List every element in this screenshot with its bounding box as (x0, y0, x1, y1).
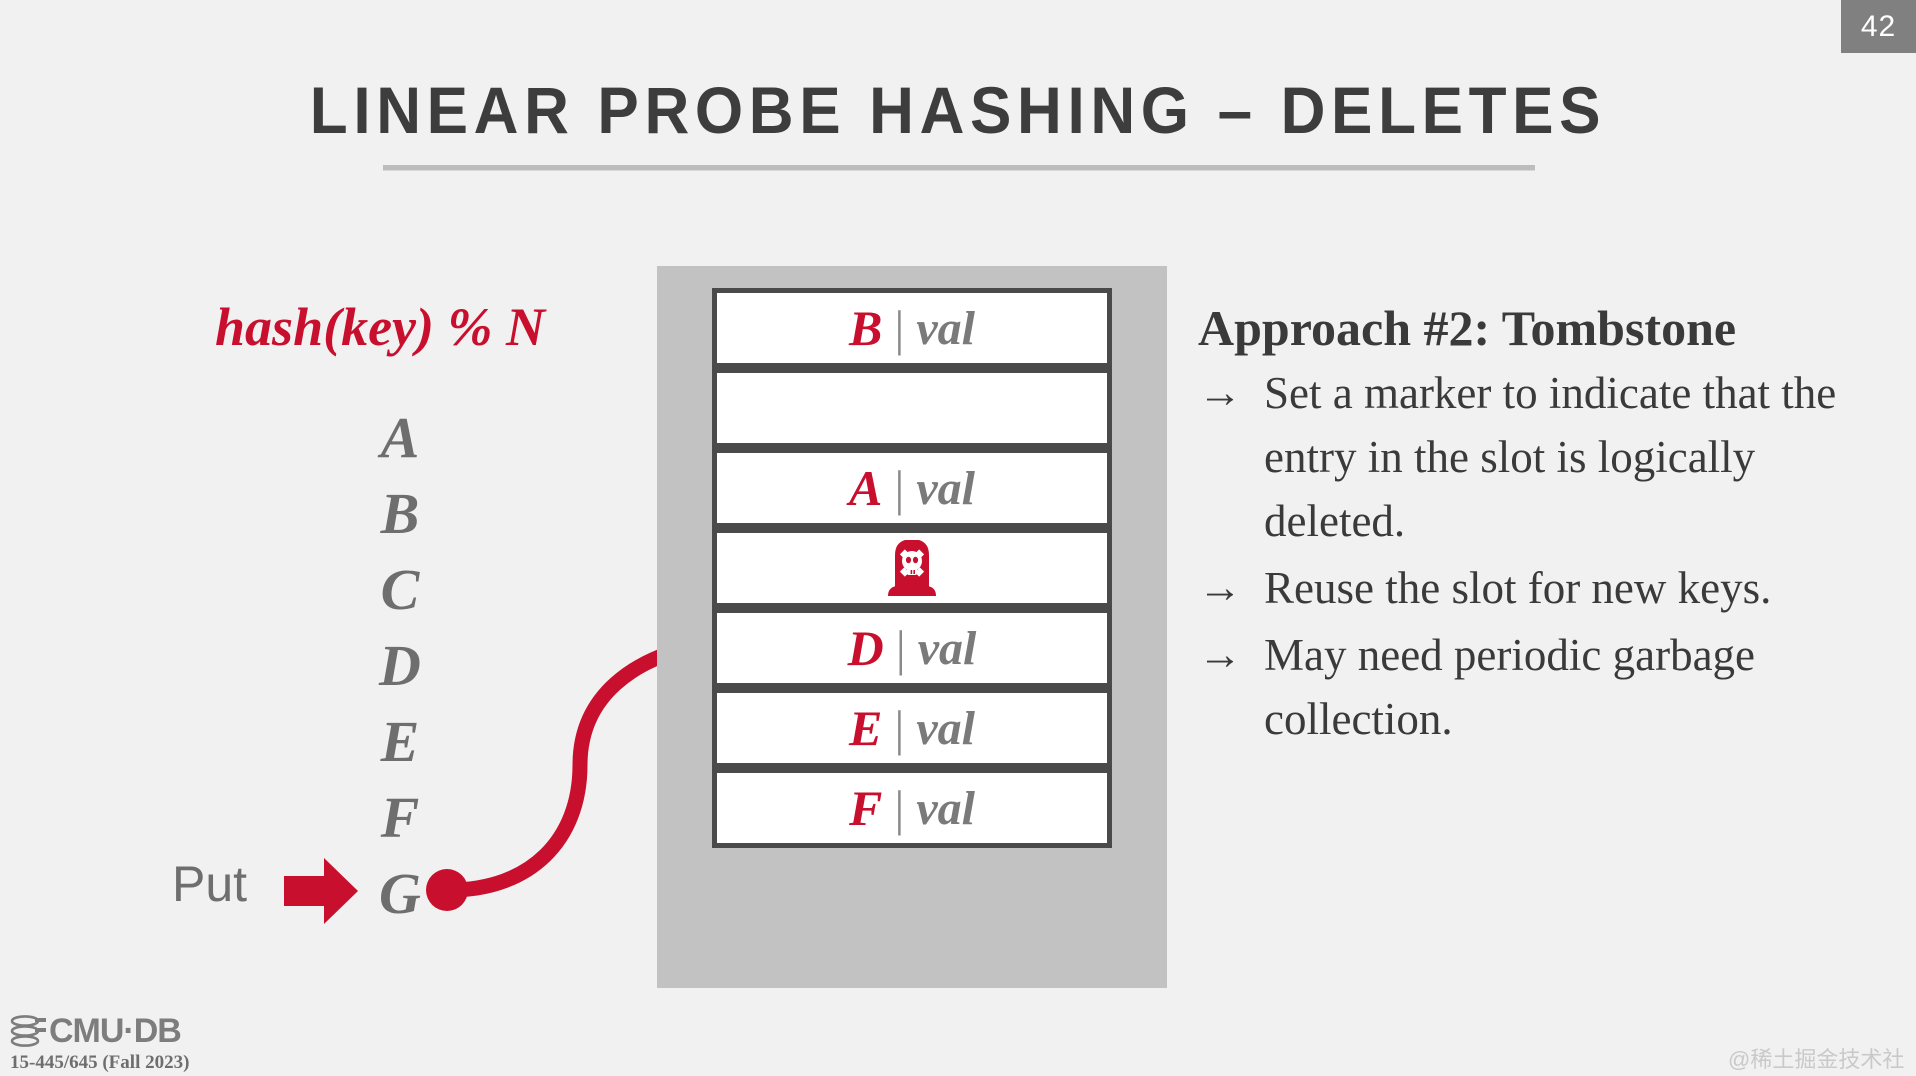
hash-formula: hash(key) % N (200, 296, 560, 358)
slot-value: val (916, 301, 975, 356)
hash-slot[interactable]: E | val (712, 688, 1112, 768)
slot-separator: | (896, 619, 906, 677)
watermark-label: @稀土掘金技术社区 (1728, 1042, 1916, 1076)
put-label: Put (172, 855, 247, 913)
bullet-item: → May need periodic garbage collection. (1198, 623, 1898, 751)
approach-heading: Approach #2: Tombstone (1198, 298, 1898, 358)
hash-slot[interactable]: D | val (712, 608, 1112, 688)
key-letter: A (355, 400, 445, 476)
slot-key: B (849, 299, 882, 357)
slot-value: val (918, 621, 977, 676)
hash-slot-empty[interactable] (712, 368, 1112, 448)
hash-slot[interactable]: B | val (712, 288, 1112, 368)
hash-table-container: B | val A | val (657, 266, 1167, 988)
key-letter: B (355, 476, 445, 552)
arrow-bullet-icon: → (1198, 623, 1264, 751)
bullet-text: Reuse the slot for new keys. (1264, 556, 1898, 620)
database-cylinder-icon (10, 1015, 46, 1049)
hash-slot[interactable]: A | val (712, 448, 1112, 528)
logo-text: CMU·DB (49, 1012, 181, 1051)
hash-slot-tombstone[interactable] (712, 528, 1112, 608)
hash-slot[interactable]: F | val (712, 768, 1112, 848)
arrow-bullet-icon: → (1198, 556, 1264, 620)
bullet-text: Set a marker to indicate that the entry … (1264, 361, 1898, 553)
slot-key: E (849, 699, 882, 757)
page-number-badge: 42 (1841, 0, 1916, 53)
slot-value: val (916, 701, 975, 756)
slot-separator: | (894, 299, 904, 357)
tombstone-skull-icon (883, 537, 941, 599)
bullet-item: → Set a marker to indicate that the entr… (1198, 361, 1898, 553)
slot-separator: | (894, 459, 904, 517)
course-label: 15-445/645 (Fall 2023) (10, 1052, 189, 1074)
slot-value: val (916, 781, 975, 836)
title-divider (383, 165, 1535, 171)
page-title: LINEAR PROBE HASHING – DELETES (57, 72, 1858, 148)
slot-separator: | (894, 699, 904, 757)
slide-canvas: 42 LINEAR PROBE HASHING – DELETES hash(k… (0, 0, 1916, 1076)
cmudb-logo[interactable]: CMU·DB (10, 1012, 181, 1051)
approach-section: Approach #2: Tombstone → Set a marker to… (1198, 298, 1898, 751)
arrow-bullet-icon: → (1198, 361, 1264, 553)
slot-value: val (916, 461, 975, 516)
bullet-item: → Reuse the slot for new keys. (1198, 556, 1898, 620)
slot-key: D (848, 619, 884, 677)
slot-key: A (849, 459, 882, 517)
right-block-arrow-icon (284, 858, 358, 924)
slot-separator: | (894, 779, 904, 837)
slot-key: F (849, 779, 882, 837)
bullet-text: May need periodic garbage collection. (1264, 623, 1898, 751)
